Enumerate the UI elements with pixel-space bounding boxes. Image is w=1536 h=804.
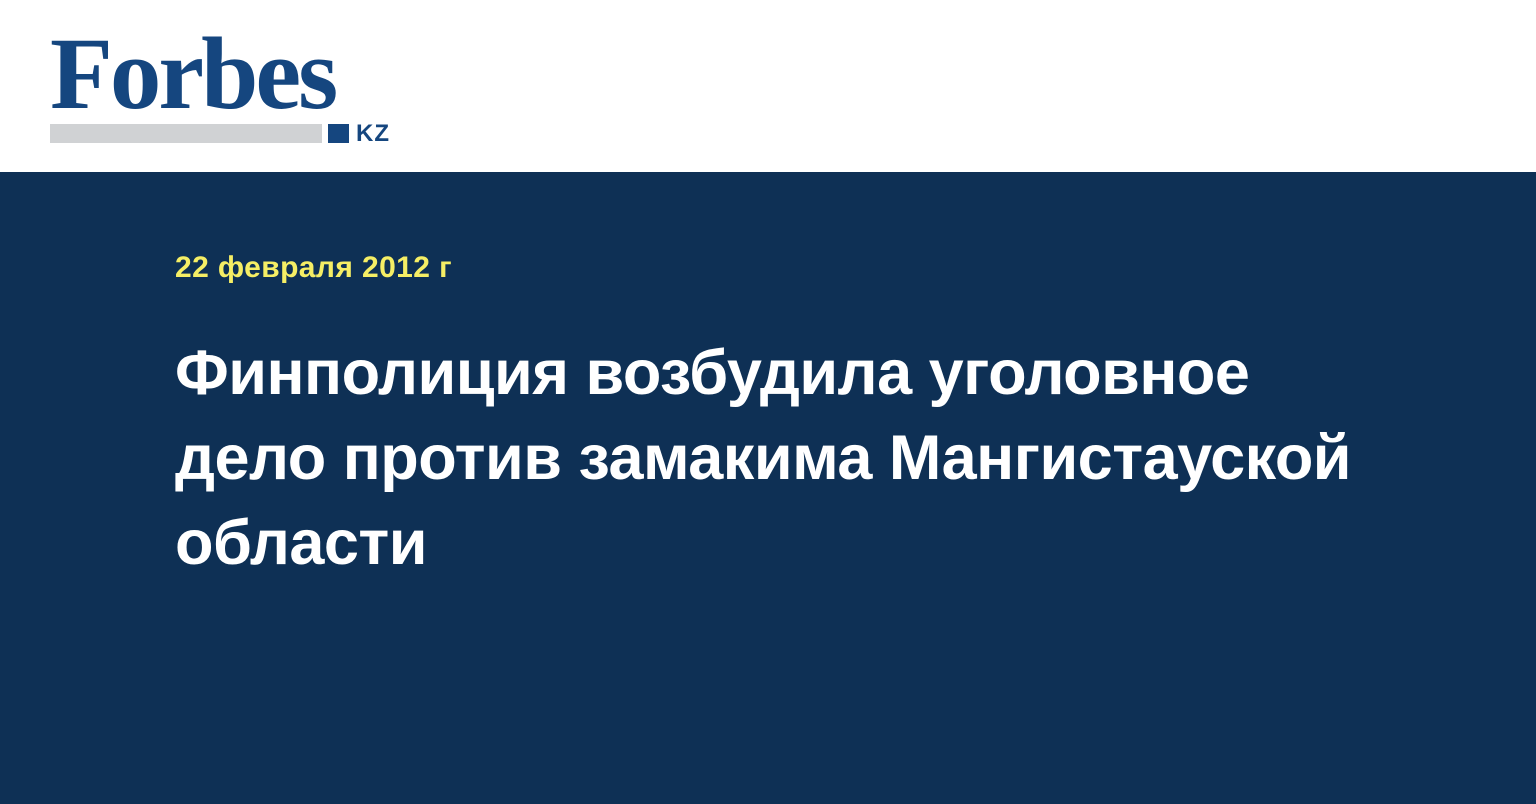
- logo-kz-label: KZ: [356, 122, 390, 146]
- forbes-kz-logo[interactable]: Forbes KZ: [50, 26, 415, 146]
- page-title: Финполиция возбудила уголовное дело прот…: [175, 331, 1375, 586]
- logo-wordmark: Forbes: [50, 26, 415, 122]
- article-hero-content: 22 февраля 2012 г Финполиция возбудила у…: [175, 250, 1385, 586]
- logo-rule: [50, 124, 322, 143]
- logo-underline-row: KZ: [50, 122, 410, 146]
- article-hero: 22 февраля 2012 г Финполиция возбудила у…: [0, 172, 1536, 804]
- site-header: Forbes KZ: [0, 0, 1536, 172]
- article-date: 22 февраля 2012 г: [175, 250, 1385, 286]
- blue-square-icon: [328, 124, 349, 143]
- article-page: Forbes KZ 22 февраля 2012 г Финполиция в…: [0, 0, 1536, 804]
